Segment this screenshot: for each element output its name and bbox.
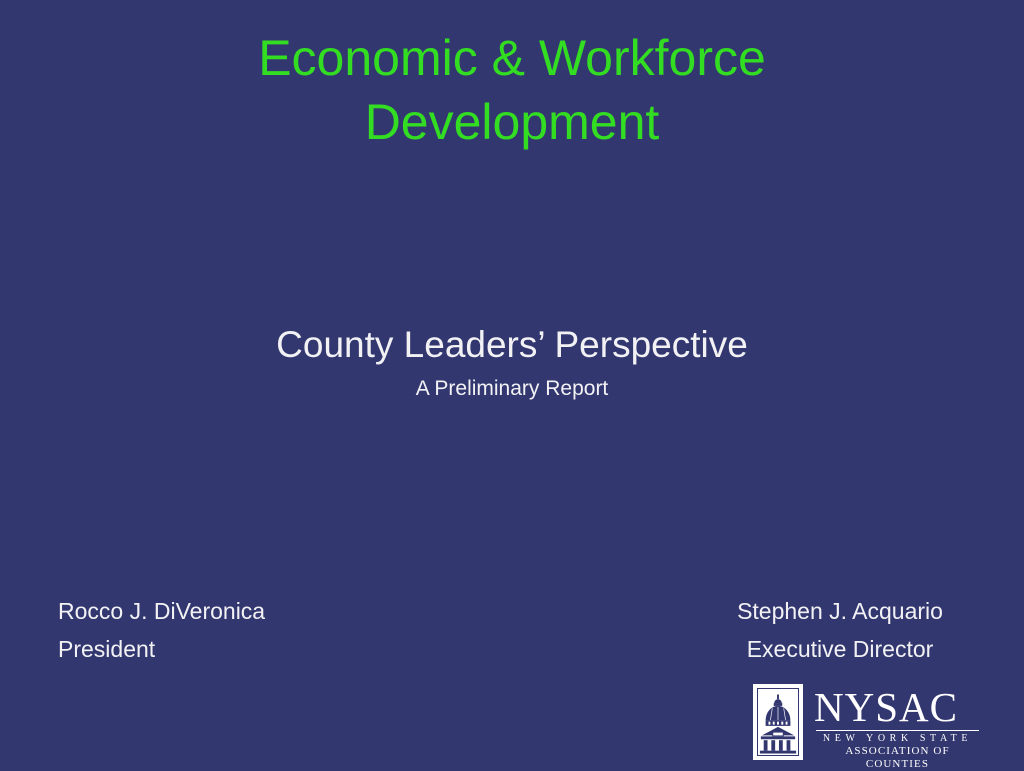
capitol-dome-icon [757,688,799,756]
presenter-name: Rocco J. DiVeronica [58,592,265,630]
presenter-block-executive-director: Stephen J. Acquario Executive Director [690,592,990,668]
subtitle-main: County Leaders’ Perspective [62,322,962,368]
logo-divider [816,730,979,731]
nysac-logo-text: NYSAC NEW YORK STATE ASSOCIATION OF COUN… [814,684,979,771]
presentation-slide: Economic & Workforce Development County … [0,0,1024,768]
presenter-name: Stephen J. Acquario [690,592,990,630]
logo-tagline-line-1: NEW YORK STATE [816,733,979,745]
slide-subtitle: County Leaders’ Perspective A Preliminar… [62,322,962,404]
presenter-block-president: Rocco J. DiVeronica President [58,592,265,668]
presenter-role: Executive Director [690,630,990,668]
title-line-1: Economic & Workforce [100,26,924,90]
presenter-role: President [58,630,265,668]
slide-title: Economic & Workforce Development [100,26,924,154]
subtitle-secondary: A Preliminary Report [62,374,962,404]
title-line-2: Development [100,90,924,154]
logo-tagline-line-2: ASSOCIATION OF COUNTIES [816,745,979,771]
nysac-emblem-frame [753,684,803,760]
nysac-logo: NYSAC NEW YORK STATE ASSOCIATION OF COUN… [753,684,983,764]
nysac-wordmark: NYSAC [814,685,979,729]
